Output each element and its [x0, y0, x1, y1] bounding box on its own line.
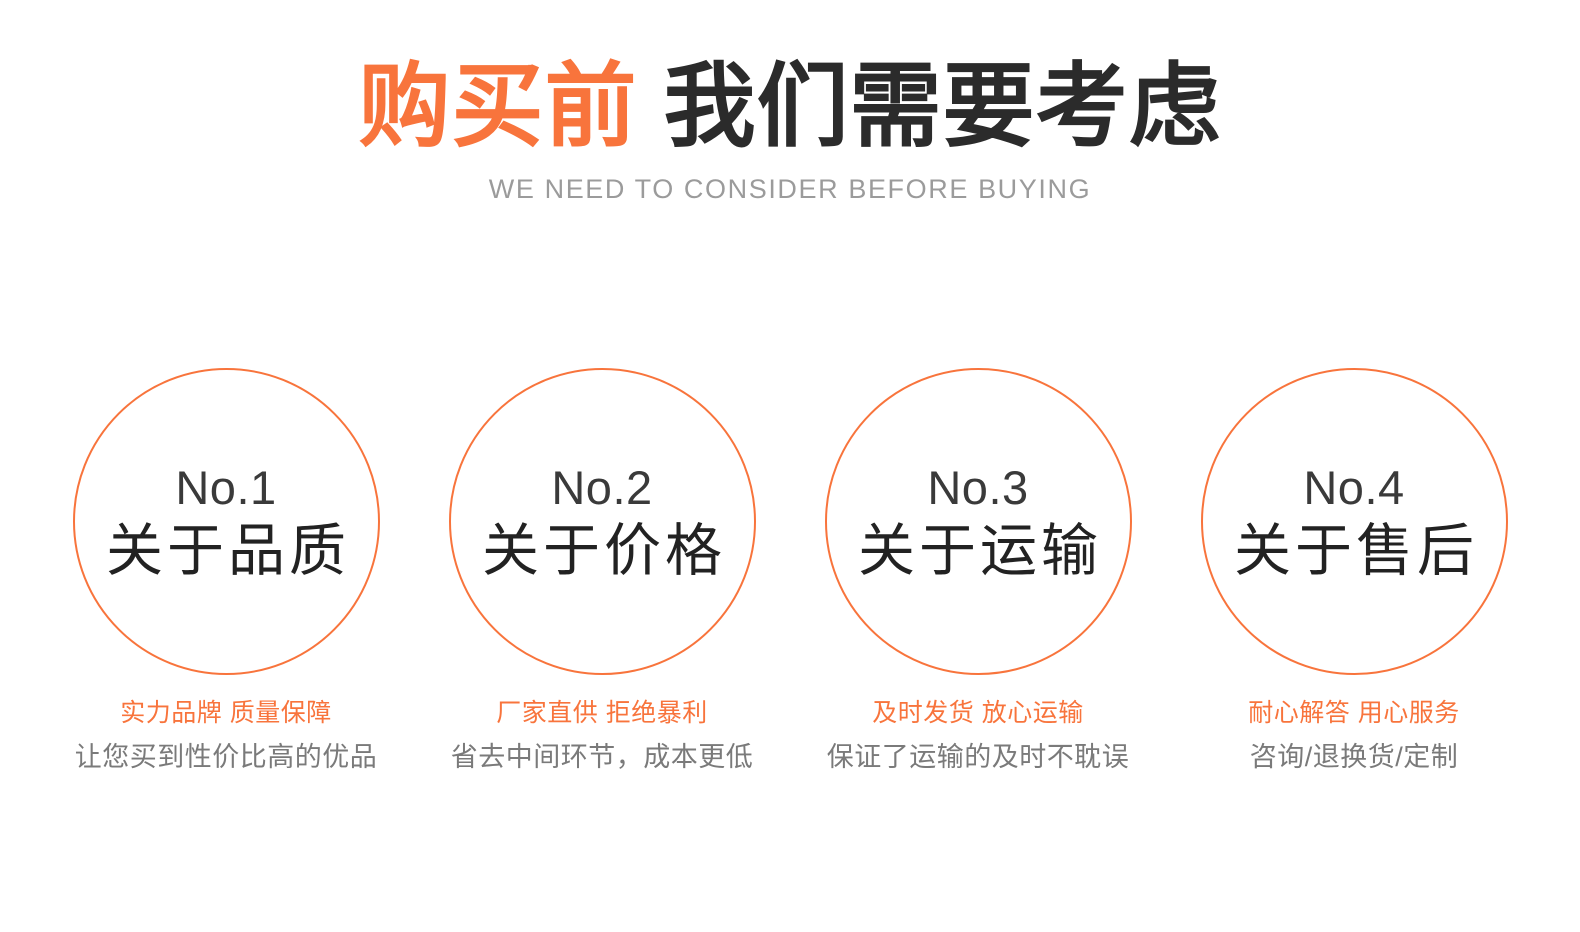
feature-card-4: No.4 关于售后 耐心解答 用心服务 咨询/退换货/定制 [1201, 368, 1508, 777]
feature-caption-2: 厂家直供 拒绝暴利 省去中间环节，成本更低 [412, 695, 792, 777]
feature-number-2: No.2 [551, 464, 652, 511]
feature-card-1: No.1 关于品质 实力品牌 质量保障 让您买到性价比高的优品 [73, 368, 380, 777]
feature-name-3: 关于运输 [854, 523, 1102, 580]
feature-number-3: No.3 [927, 464, 1028, 511]
promo-banner: 购买前我们需要考虑 WE NEED TO CONSIDER BEFORE BUY… [0, 0, 1580, 932]
feature-circle-1: No.1 关于品质 [73, 368, 380, 675]
feature-name-2: 关于价格 [478, 523, 726, 580]
feature-caption-primary-2: 厂家直供 拒绝暴利 [412, 695, 792, 731]
feature-card-list: No.1 关于品质 实力品牌 质量保障 让您买到性价比高的优品 No.2 关于价… [0, 368, 1580, 777]
feature-caption-primary-3: 及时发货 放心运输 [788, 695, 1168, 731]
feature-caption-3: 及时发货 放心运输 保证了运输的及时不耽误 [788, 695, 1168, 777]
feature-name-1: 关于品质 [102, 523, 350, 580]
feature-number-1: No.1 [175, 464, 276, 511]
page-subtitle: WE NEED TO CONSIDER BEFORE BUYING [0, 173, 1580, 205]
feature-caption-secondary-4: 咨询/退换货/定制 [1164, 739, 1544, 777]
feature-number-4: No.4 [1303, 464, 1404, 511]
feature-caption-primary-1: 实力品牌 质量保障 [36, 695, 416, 731]
feature-caption-secondary-1: 让您买到性价比高的优品 [36, 739, 416, 777]
feature-name-4: 关于售后 [1230, 523, 1478, 580]
feature-caption-1: 实力品牌 质量保障 让您买到性价比高的优品 [36, 695, 416, 777]
feature-circle-2: No.2 关于价格 [449, 368, 756, 675]
feature-circle-3: No.3 关于运输 [825, 368, 1132, 675]
banner-header: 购买前我们需要考虑 WE NEED TO CONSIDER BEFORE BUY… [0, 56, 1580, 205]
feature-caption-4: 耐心解答 用心服务 咨询/退换货/定制 [1164, 695, 1544, 777]
feature-caption-secondary-3: 保证了运输的及时不耽误 [788, 739, 1168, 777]
feature-caption-primary-4: 耐心解答 用心服务 [1164, 695, 1544, 731]
feature-card-3: No.3 关于运输 及时发货 放心运输 保证了运输的及时不耽误 [825, 368, 1132, 777]
feature-card-2: No.2 关于价格 厂家直供 拒绝暴利 省去中间环节，成本更低 [449, 368, 756, 777]
feature-caption-secondary-2: 省去中间环节，成本更低 [412, 739, 792, 777]
page-title: 购买前我们需要考虑 [0, 56, 1580, 159]
feature-circle-4: No.4 关于售后 [1201, 368, 1508, 675]
page-title-rest: 我们需要考虑 [664, 56, 1222, 158]
page-title-accent: 购买前 [358, 56, 637, 158]
